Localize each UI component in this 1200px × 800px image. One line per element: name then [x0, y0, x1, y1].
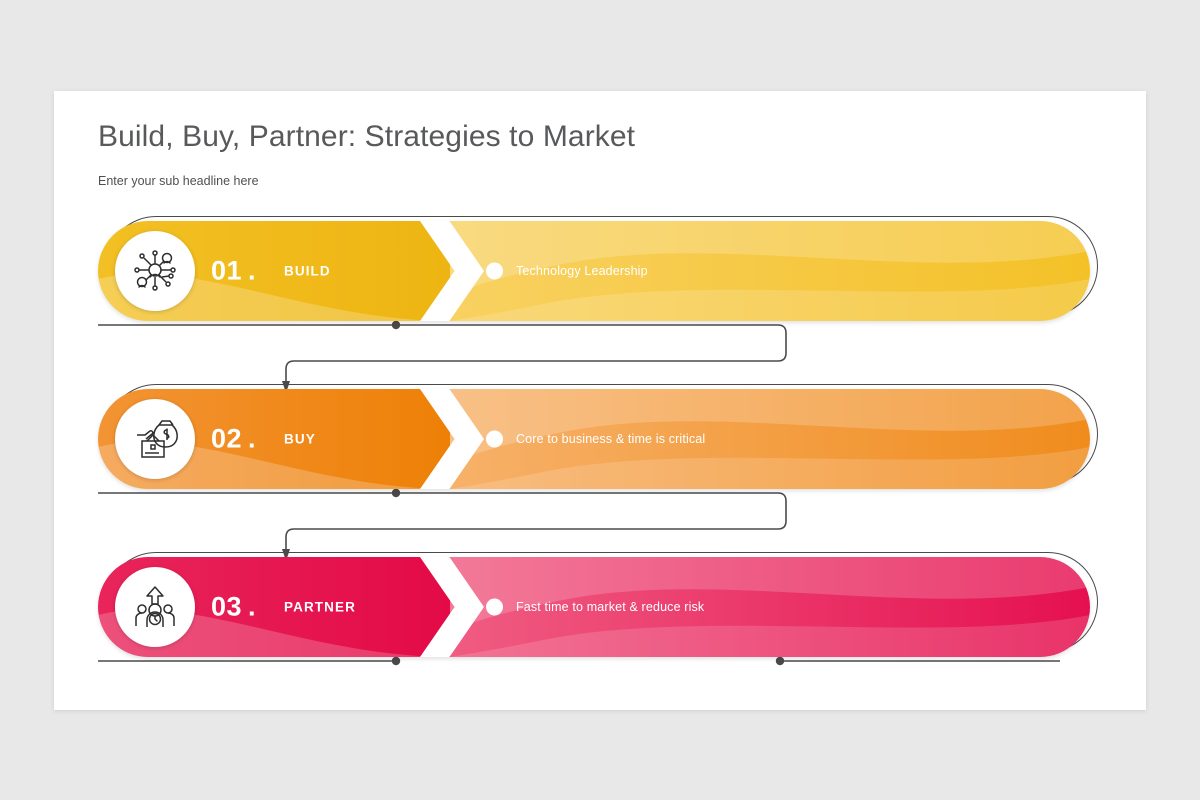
step-number: 01.: [211, 256, 256, 287]
team-growth-arrow-icon: [115, 567, 195, 647]
step-number: 03.: [211, 592, 256, 623]
step-label: PARTNER: [284, 600, 356, 615]
step-row-partner[interactable]: 03. PARTNER Fast time to market & reduce…: [98, 557, 1098, 657]
steps-list: 01. BUILD Technology Leadership: [54, 91, 1146, 710]
step-number: 02.: [211, 424, 256, 455]
step-bullet-icon: [486, 431, 503, 448]
slide-card: Build, Buy, Partner: Strategies to Marke…: [54, 91, 1146, 710]
step-description: Technology Leadership: [516, 264, 648, 278]
step-row-buy[interactable]: 02. BUY Core to business & time is criti…: [98, 389, 1098, 489]
step-row-build[interactable]: 01. BUILD Technology Leadership: [98, 221, 1098, 321]
step-label: BUY: [284, 432, 316, 447]
step-bullet-icon: [486, 599, 503, 616]
step-bullet-icon: [486, 263, 503, 280]
network-people-icon: [115, 231, 195, 311]
step-label: BUILD: [284, 264, 331, 279]
step-description: Core to business & time is critical: [516, 432, 705, 446]
step-description: Fast time to market & reduce risk: [516, 600, 704, 614]
money-bag-house-icon: [115, 399, 195, 479]
